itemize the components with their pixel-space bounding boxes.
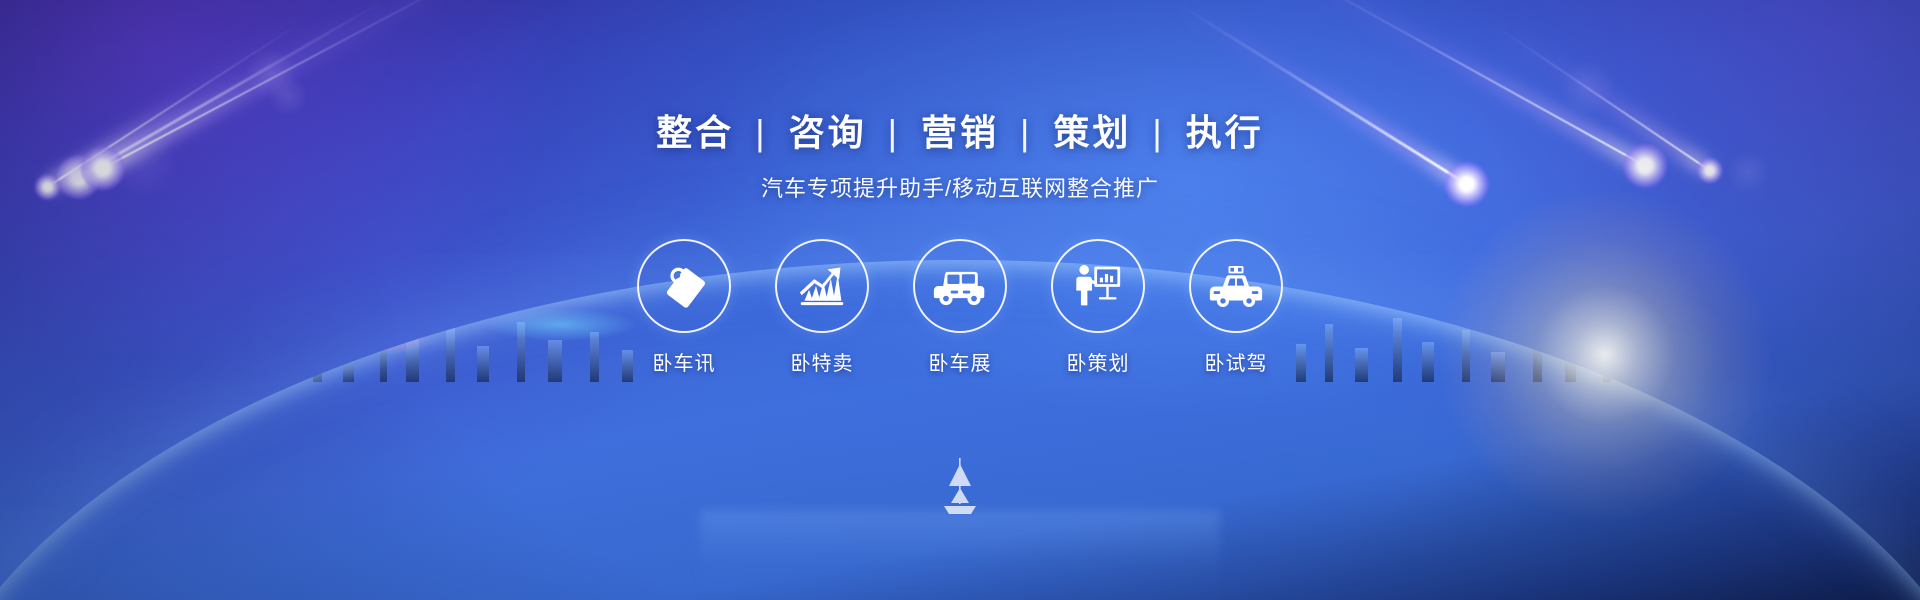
feature-icon-circle[interactable]	[1189, 239, 1283, 333]
headline-part-5: 执行	[1186, 112, 1264, 153]
car-icon	[932, 265, 988, 307]
price-tag-icon	[659, 261, 709, 311]
headline-part-2: 咨询	[789, 112, 867, 153]
headline-part-4: 策划	[1053, 112, 1131, 153]
page-subtitle: 汽车专项提升助手/移动互联网整合推广	[761, 171, 1159, 203]
feature-icon-circle[interactable]	[775, 239, 869, 333]
feature-label: 卧车展	[929, 347, 992, 376]
feature-icon-circle[interactable]	[637, 239, 731, 333]
headline-separator: |	[880, 112, 908, 153]
headline-part-1: 整合	[656, 112, 734, 153]
taxi-car-icon	[1208, 264, 1264, 309]
feature-list: 卧车讯	[637, 239, 1283, 376]
feature-item-car-news[interactable]: 卧车讯	[637, 239, 731, 376]
banner-content: 整合 | 咨询 | 营销 | 策划 | 执行 汽车专项提升助手/移动互联网整合推…	[0, 0, 1920, 600]
headline-separator: |	[1144, 112, 1172, 153]
hero-banner: 整合 | 咨询 | 营销 | 策划 | 执行 汽车专项提升助手/移动互联网整合推…	[0, 0, 1920, 600]
page-title: 整合 | 咨询 | 营销 | 策划 | 执行	[656, 104, 1264, 156]
feature-item-test-drive[interactable]: 卧试驾	[1189, 239, 1283, 376]
feature-label: 卧试驾	[1205, 347, 1268, 376]
feature-item-planning[interactable]: 卧策划	[1051, 239, 1145, 376]
feature-icon-circle[interactable]	[913, 239, 1007, 333]
headline-part-3: 营销	[921, 112, 999, 153]
feature-label: 卧特卖	[791, 347, 854, 376]
feature-label: 卧车讯	[653, 347, 716, 376]
presenter-icon	[1073, 262, 1123, 310]
bar-chart-up-icon	[796, 262, 848, 310]
headline-separator: |	[1012, 112, 1040, 153]
feature-label: 卧策划	[1067, 347, 1130, 376]
feature-item-flash-sale[interactable]: 卧特卖	[775, 239, 869, 376]
feature-item-auto-show[interactable]: 卧车展	[913, 239, 1007, 376]
feature-icon-circle[interactable]	[1051, 239, 1145, 333]
headline-separator: |	[747, 112, 775, 153]
